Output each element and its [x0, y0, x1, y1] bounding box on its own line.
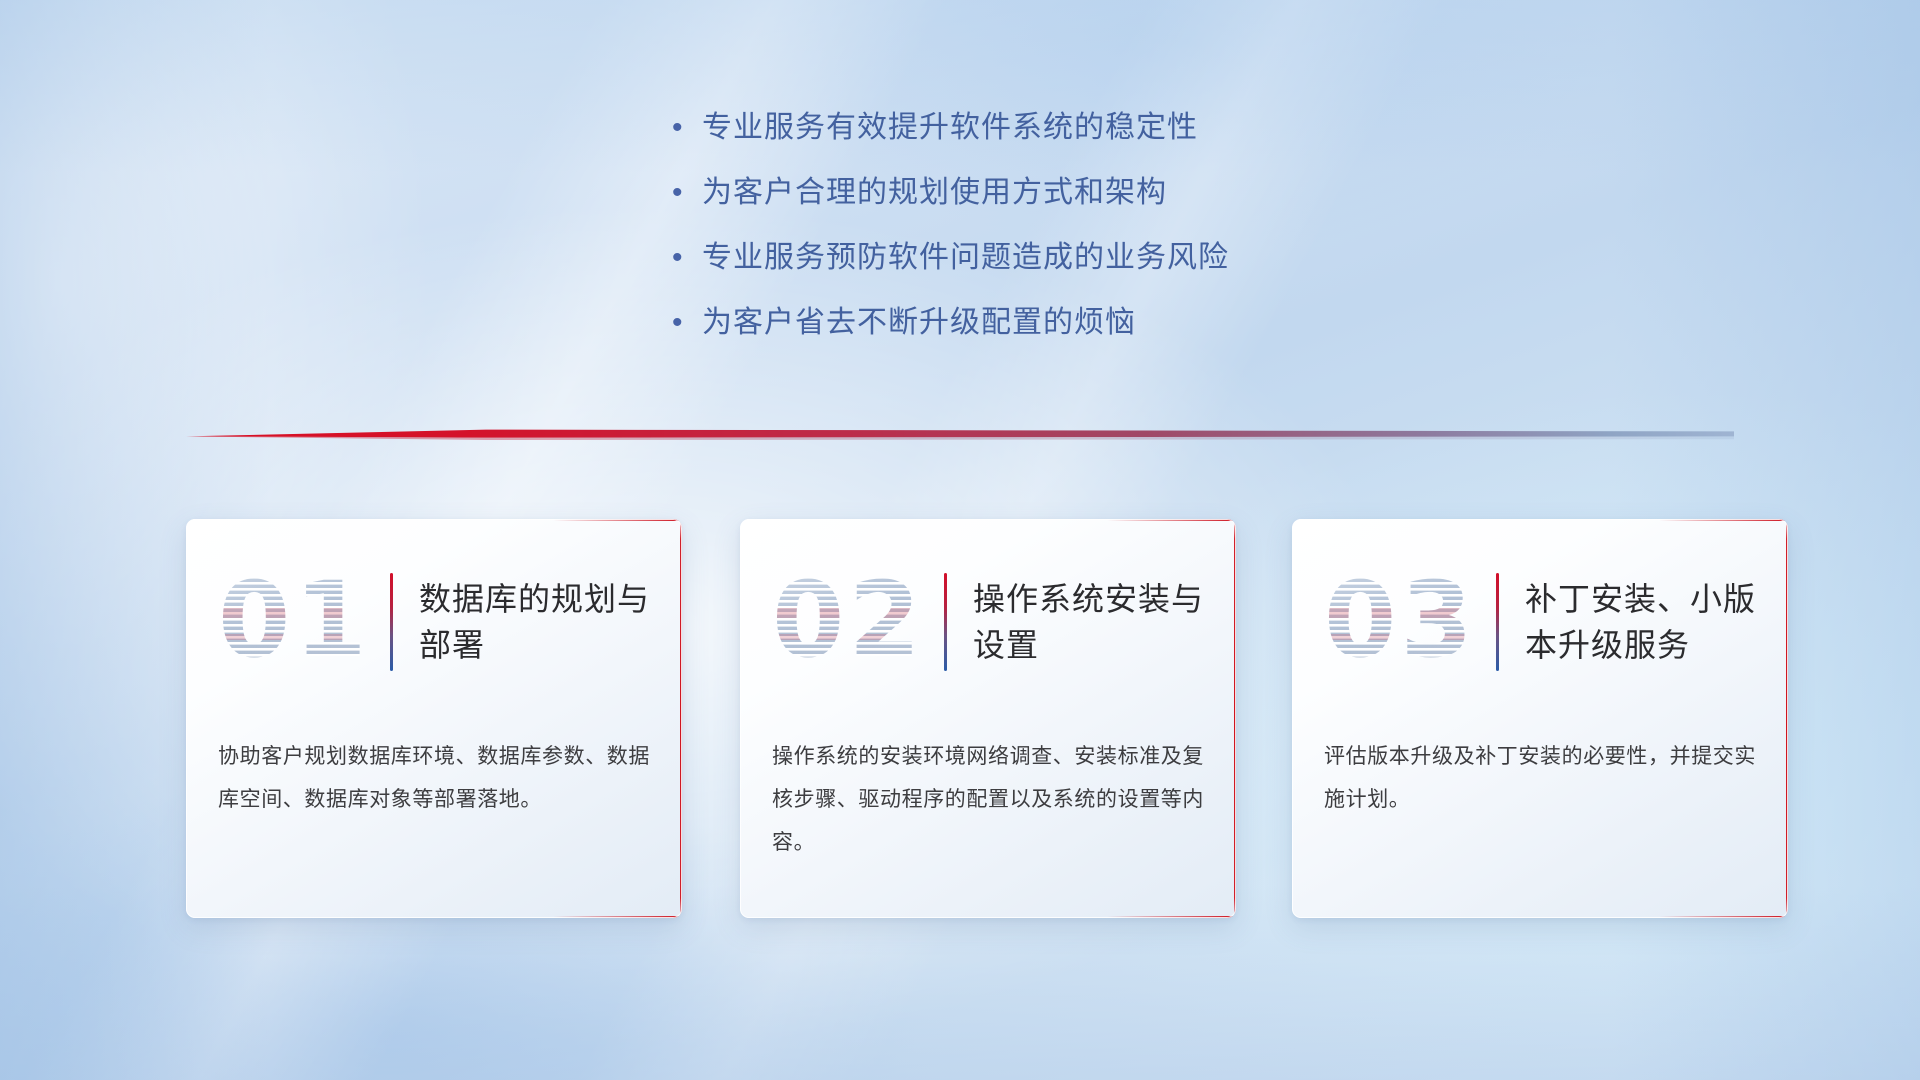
- card-accent-border-bottom: [1659, 916, 1788, 918]
- card-accent-border-bottom: [553, 916, 682, 918]
- bullet-text: 为客户合理的规划使用方式和架构: [702, 173, 1167, 213]
- service-cards-row: 01 数据库的规划与部署 协助客户规划数据库环境、数据库参数、数据库空间、数据库…: [0, 519, 1920, 919]
- card-title: 补丁安装、小版本升级服务: [1525, 576, 1788, 668]
- service-card-02[interactable]: 02 操作系统安装与设置 操作系统的安装环境网络调查、安装标准及复核步骤、驱动程…: [740, 519, 1236, 918]
- card-accent-border-top: [1107, 519, 1236, 521]
- card-accent-border-bottom: [1107, 916, 1236, 918]
- bullet-dot-icon: •: [672, 238, 702, 278]
- card-title-rule: [390, 573, 393, 671]
- card-title: 操作系统安装与设置: [973, 576, 1236, 668]
- card-title-rule: [1496, 573, 1499, 671]
- card-accent-border-top: [1659, 519, 1788, 521]
- bullet-item: • 为客户合理的规划使用方式和架构: [672, 173, 1432, 238]
- card-title: 数据库的规划与部署: [419, 576, 682, 668]
- bullet-dot-icon: •: [672, 108, 702, 148]
- bullet-item: • 为客户省去不断升级配置的烦恼: [672, 303, 1432, 368]
- service-card-01[interactable]: 01 数据库的规划与部署 协助客户规划数据库环境、数据库参数、数据库空间、数据库…: [186, 519, 682, 918]
- bullet-text: 专业服务预防软件问题造成的业务风险: [702, 238, 1229, 278]
- card-accent-border-top: [553, 519, 682, 521]
- bullet-text: 专业服务有效提升软件系统的稳定性: [702, 108, 1198, 148]
- card-body-text: 操作系统的安装环境网络调查、安装标准及复核步骤、驱动程序的配置以及系统的设置等内…: [772, 735, 1206, 864]
- bullet-dot-icon: •: [672, 173, 702, 213]
- bullet-item: • 专业服务有效提升软件系统的稳定性: [672, 108, 1432, 173]
- card-body-text: 评估版本升级及补丁安装的必要性，并提交实施计划。: [1324, 735, 1758, 821]
- bullet-dot-icon: •: [672, 303, 702, 343]
- bullet-text: 为客户省去不断升级配置的烦恼: [702, 303, 1136, 343]
- service-card-03[interactable]: 03 补丁安装、小版本升级服务 评估版本升级及补丁安装的必要性，并提交实施计划。: [1292, 519, 1788, 918]
- card-body-text: 协助客户规划数据库环境、数据库参数、数据库空间、数据库对象等部署落地。: [218, 735, 652, 821]
- bullet-item: • 专业服务预防软件问题造成的业务风险: [672, 238, 1432, 303]
- card-title-rule: [944, 573, 947, 671]
- card-number-01-graphic: 01: [216, 564, 384, 680]
- card-number-03-graphic: 03: [1322, 564, 1490, 680]
- card-header: 03 补丁安装、小版本升级服务: [1292, 555, 1788, 689]
- section-divider: [186, 425, 1734, 447]
- card-header: 01 数据库的规划与部署: [186, 555, 682, 689]
- card-header: 02 操作系统安装与设置: [740, 555, 1236, 689]
- benefits-bullet-list: • 专业服务有效提升软件系统的稳定性 • 为客户合理的规划使用方式和架构 • 专…: [672, 108, 1432, 368]
- card-number-02-graphic: 02: [770, 564, 938, 680]
